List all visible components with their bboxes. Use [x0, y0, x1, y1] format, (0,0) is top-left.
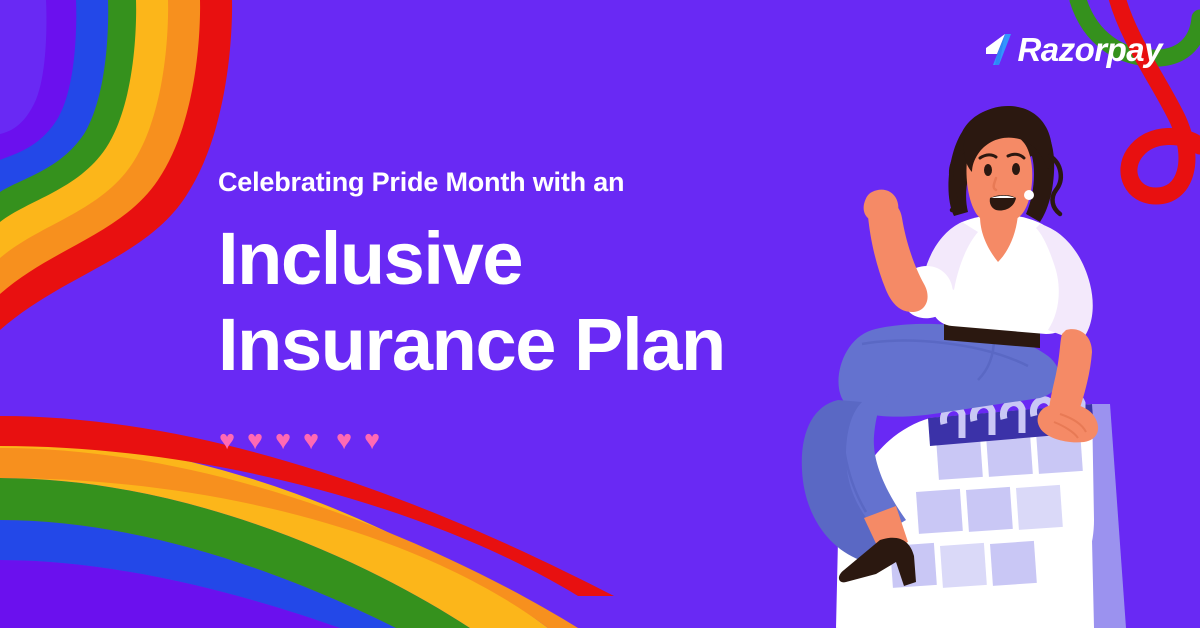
calendar-cell — [940, 543, 987, 588]
pride-month-insurance-banner: Razorpay Celebrating Pride Month with an… — [0, 0, 1200, 628]
eye-right — [1012, 163, 1020, 175]
headline-block: Celebrating Pride Month with an Inclusiv… — [218, 168, 838, 389]
calendar-cell — [966, 487, 1013, 532]
pride-heart-icon: ♥ — [275, 427, 291, 454]
eye-left — [984, 164, 992, 176]
pride-heart-icon: ♥ — [247, 427, 263, 454]
razorpay-arrow-logo-icon — [983, 32, 1013, 66]
page-title: Inclusive Insurance Plan — [218, 216, 838, 389]
raised-fist — [864, 190, 899, 222]
pride-heart-icon: ♥ — [336, 427, 352, 454]
calendar-cell — [916, 489, 963, 534]
pride-heart-icon: ♥ — [364, 427, 380, 454]
razorpay-wordmark: Razorpay — [1017, 33, 1162, 66]
pride-heart-icon: ♥ — [219, 427, 235, 454]
earring — [1024, 190, 1034, 200]
calendar-cell — [990, 541, 1037, 586]
eyebrow-text: Celebrating Pride Month with an — [218, 168, 838, 198]
razorpay-logo[interactable]: Razorpay — [983, 32, 1162, 66]
calendar-cell — [1016, 485, 1063, 530]
pride-hearts-row: ♥♥♥♥♥♥ — [219, 425, 399, 455]
pride-heart-icon: ♥ — [303, 427, 319, 454]
